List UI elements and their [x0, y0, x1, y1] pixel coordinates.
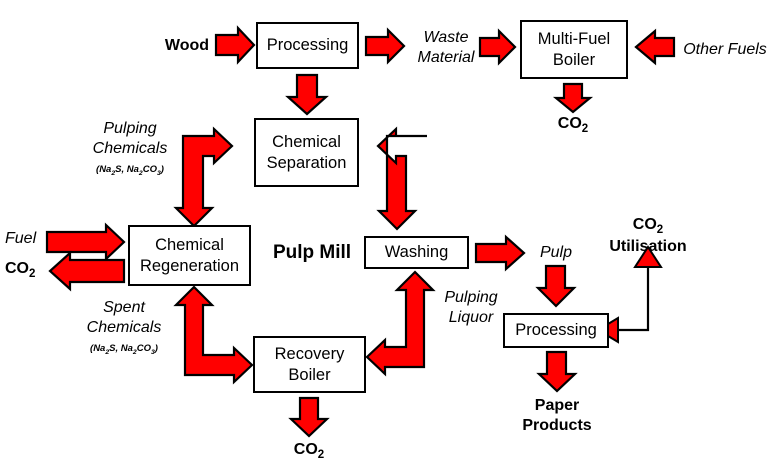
arrow-other-fuels-to-boiler [636, 31, 674, 63]
box-chemical-regeneration[interactable]: Chemical Regeneration [128, 225, 251, 286]
pulp-mill-process-diagram: Processing Multi-Fuel Boiler Chemical Se… [0, 0, 770, 472]
subscript-2: 2 [133, 349, 137, 356]
arrow-regeneration-to-co2 [50, 253, 124, 289]
arrow-wood-to-processing [216, 28, 254, 62]
box-label: Recovery Boiler [275, 344, 345, 384]
label-co2-multi-fuel-boiler: CO2 [549, 114, 597, 136]
subscript-2: 2 [657, 224, 663, 236]
subscript-2: 2 [105, 349, 109, 356]
box-label: Washing [385, 242, 449, 262]
label-pulping-liquor: Pulping Liquor [430, 288, 512, 327]
arrow-pulping-chemicals-elbow [176, 129, 232, 226]
label-paper-products: Paper Products [510, 396, 604, 435]
label-co2-regeneration: CO2 [5, 259, 53, 281]
box-washing[interactable]: Washing [364, 236, 469, 269]
label-waste-material: Waste Material [406, 28, 486, 67]
arrow-pulp-to-processing [538, 266, 574, 306]
label-pulping-chemicals: Pulping Chemicals [82, 119, 178, 158]
subscript-2: 2 [582, 123, 588, 135]
box-label: Processing [267, 35, 349, 55]
subscript-2: 2 [29, 268, 35, 280]
arrow-recovery-boiler-to-co2 [291, 398, 327, 436]
label-fuel: Fuel [5, 229, 49, 249]
arrow-pulping-liquor-elbow [367, 272, 433, 374]
box-chemical-separation[interactable]: Chemical Separation [254, 118, 359, 187]
subscript-2: 2 [318, 449, 324, 461]
box-recovery-boiler[interactable]: Recovery Boiler [253, 336, 366, 393]
label-other-fuels: Other Fuels [680, 40, 770, 60]
arrow-separation-to-washing-elbow [378, 129, 427, 229]
label-spent-chemicals: Spent Chemicals [74, 298, 174, 337]
label-pulp: Pulp [532, 243, 580, 263]
label-wood: Wood [159, 36, 215, 56]
box-label: Multi-Fuel Boiler [538, 29, 610, 69]
box-multi-fuel-boiler[interactable]: Multi-Fuel Boiler [520, 20, 628, 79]
label-co2-utilisation: CO2Utilisation [600, 215, 696, 257]
page-title: Pulp Mill [262, 241, 362, 264]
subscript-3: 3 [157, 170, 161, 177]
arrow-washing-to-pulp [476, 237, 524, 269]
arrow-processing-to-waste [366, 30, 404, 62]
box-processing-top[interactable]: Processing [256, 22, 359, 69]
subscript-2: 2 [139, 170, 143, 177]
subscript-3: 3 [151, 349, 155, 356]
box-label: Chemical Separation [267, 132, 347, 172]
arrow-processing-to-paper [539, 352, 575, 391]
arrow-boiler-to-co2 [556, 84, 590, 112]
label-co2-recovery-boiler: CO2 [285, 440, 333, 462]
arrow-spent-chemicals-elbow [176, 287, 252, 382]
box-processing-bottom[interactable]: Processing [503, 313, 609, 348]
arrow-fuel-to-regeneration [47, 225, 124, 259]
box-label: Processing [515, 320, 597, 340]
box-label: Chemical Regeneration [140, 235, 239, 275]
subscript-2: 2 [111, 170, 115, 177]
label-pulping-chemicals-formula: (Na2S, Na2CO3) [82, 164, 178, 178]
arrow-processing-to-separation [288, 75, 326, 114]
label-spent-chemicals-formula: (Na2S, Na2CO3) [74, 343, 174, 357]
